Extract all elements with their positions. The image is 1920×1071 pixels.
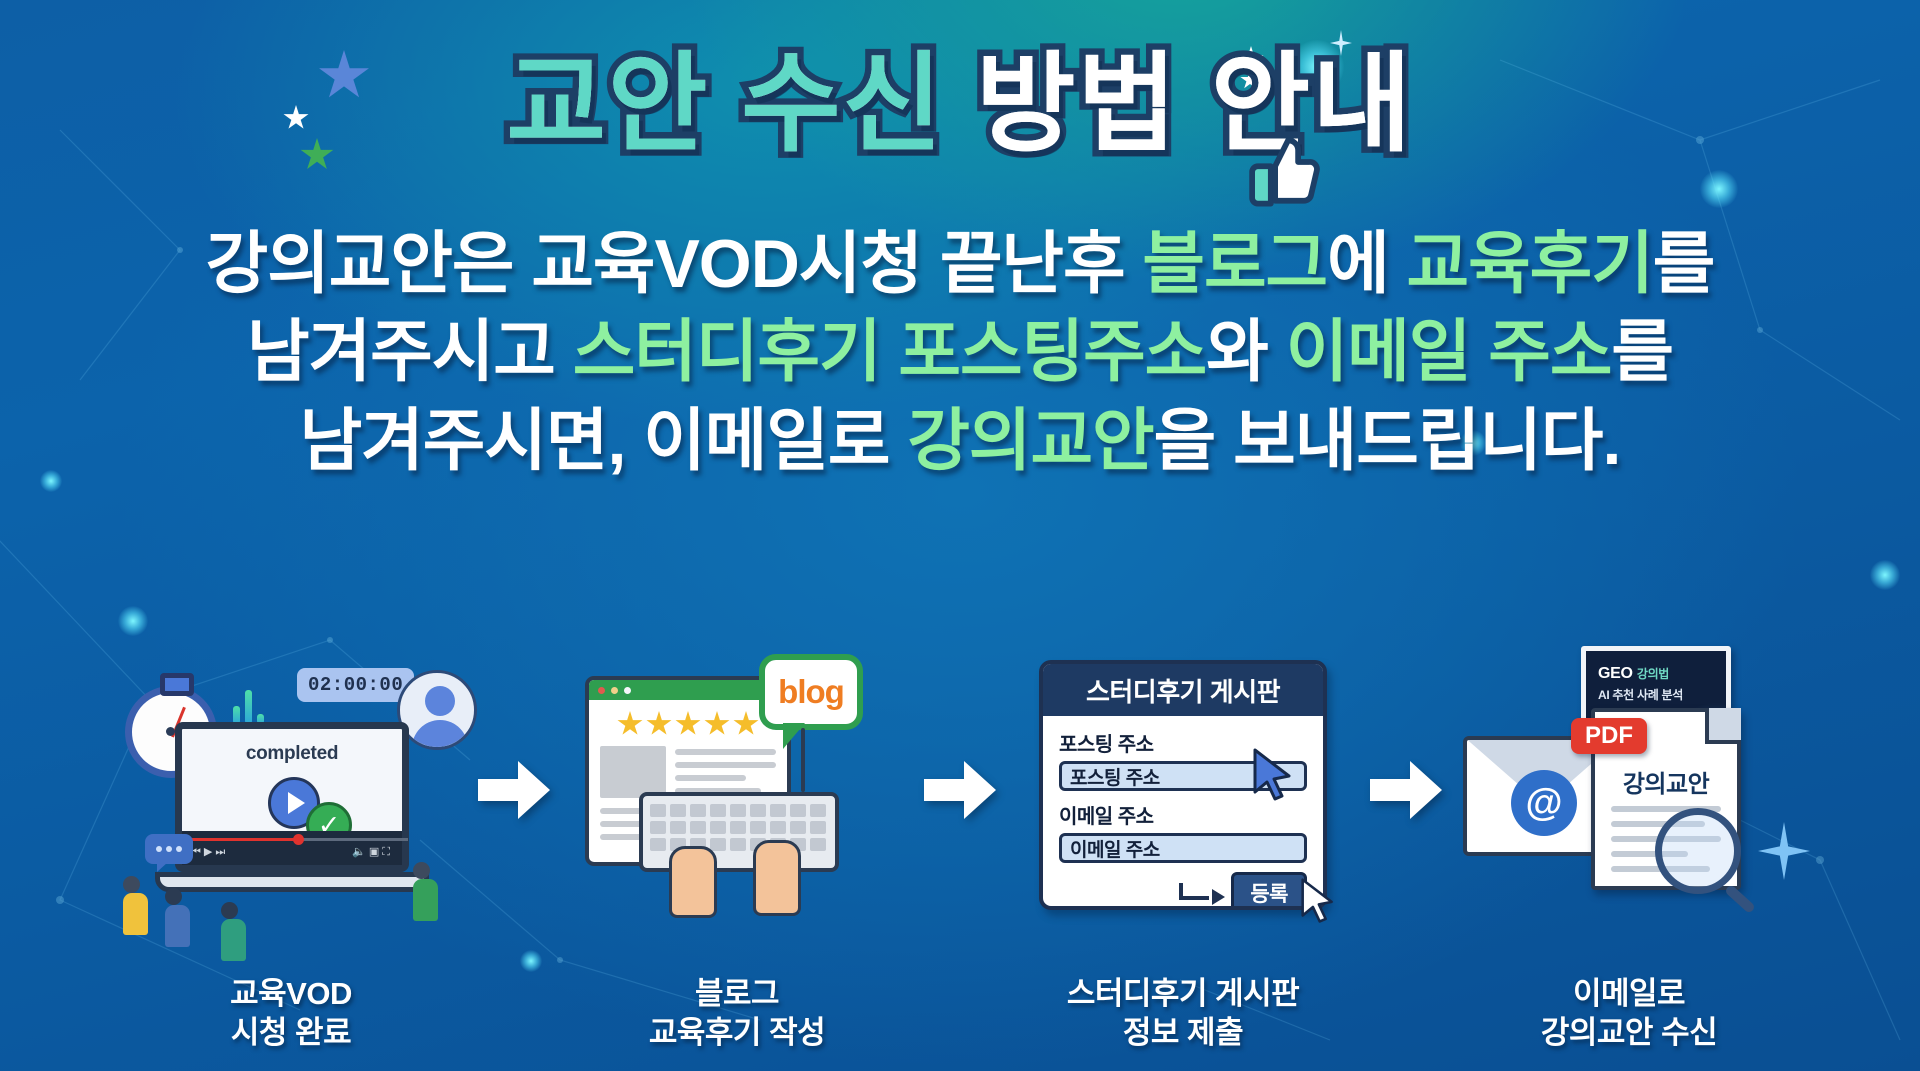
video-progress-bar[interactable]: ⏮▶⏭ 🔈▣⛶ (182, 831, 402, 865)
step-vod-caption: 교육VOD 시청 완료 (111, 974, 471, 1052)
speech-bubble-icon (145, 834, 193, 864)
caption-line-2: 시청 완료 (111, 1013, 471, 1052)
step-blog-illustration: blog (557, 640, 917, 940)
arrow-right-icon (471, 640, 557, 940)
timer-badge: 02:00:00 (297, 668, 414, 702)
body-line-3: 남겨주시면, 이메일로 강의교안을 보내드립니다. (0, 397, 1920, 485)
caption-line-1: 이메일로 (1449, 974, 1809, 1013)
step-vod: 02:00:00 completed ✓ ⏮▶⏭ 🔈▣⛶ (111, 640, 471, 1070)
person-figure (413, 862, 438, 921)
body-copy: 강의교안은 교육VOD시청 끝난후 블로그에 교육후기를 남겨주시고 스터디후기… (0, 220, 1920, 485)
body-run: 남겨주시면, 이메일로 (300, 403, 908, 479)
title-mint-part: 교안 수신 (507, 43, 944, 164)
body-run-highlight: 이메일 주소 (1286, 314, 1612, 390)
document-title: 강의교안 (1595, 764, 1737, 799)
caption-line-2: 강의교안 수신 (1449, 1013, 1809, 1052)
board-title: 스터디후기 게시판 (1043, 664, 1323, 716)
caption-line-2: 교육후기 작성 (557, 1013, 917, 1052)
step-blog: blog 블로그 교육후기 작성 (557, 640, 917, 1070)
page-title: 교안 수신 방법 안내 (507, 46, 1414, 163)
slide-title-main: GEO 강의법 (1598, 665, 1714, 683)
caption-line-1: 블로그 (557, 974, 917, 1013)
step-vod-illustration: 02:00:00 completed ✓ ⏮▶⏭ 🔈▣⛶ (111, 640, 471, 940)
body-run: 을 보내드립니다. (1154, 403, 1621, 479)
star-icon (617, 711, 643, 737)
post-thumbnail (600, 746, 666, 798)
body-run-highlight: 스터디후기 포스팅주소 (573, 314, 1207, 390)
star-icon (646, 711, 672, 737)
step-blog-caption: 블로그 교육후기 작성 (557, 974, 917, 1052)
typing-hands-icon (753, 840, 801, 916)
infographic-canvas: 교안 수신 방법 안내 강의교안은 교육VOD시청 끝난후 블로그에 교육후기를… (0, 0, 1920, 1071)
step-board-illustration: 스터디후기 게시판 포스팅 주소 포스팅 주소 이메일 주소 이메일 주소 등록 (1003, 640, 1363, 940)
cable-decoration (801, 728, 805, 792)
body-run: 를 (1611, 314, 1673, 390)
body-run-highlight: 강의교안 (907, 403, 1153, 479)
magnifier-icon (1655, 808, 1741, 894)
title-white-part: 방법 안내 (976, 43, 1413, 164)
at-sign-icon: @ (1511, 770, 1577, 836)
body-run: 남겨주시고 (247, 314, 573, 390)
step-board-caption: 스터디후기 게시판 정보 제출 (1003, 974, 1363, 1052)
email-address-input[interactable]: 이메일 주소 (1059, 833, 1307, 863)
step-email: GEO 강의법 AI 추천 사례 분석 AI 검색 노출에 최적화된 강의 실무… (1449, 640, 1809, 1070)
user-avatar-icon (397, 670, 477, 750)
step-board: 스터디후기 게시판 포스팅 주소 포스팅 주소 이메일 주소 이메일 주소 등록 (1003, 640, 1363, 1070)
completed-label: completed (182, 743, 402, 765)
blog-bubble-icon: blog (759, 654, 863, 730)
body-run-highlight: 교육후기 (1407, 226, 1653, 302)
bokeh-dot (1700, 170, 1738, 208)
signal-bars-icon (233, 684, 264, 724)
caption-line-1: 스터디후기 게시판 (1003, 974, 1363, 1013)
body-run: 를 (1653, 226, 1715, 302)
pdf-badge: PDF (1571, 718, 1647, 754)
body-run-highlight: 블로그 (1142, 226, 1327, 302)
body-line-1: 강의교안은 교육VOD시청 끝난후 블로그에 교육후기를 (0, 220, 1920, 308)
register-button[interactable]: 등록 (1231, 872, 1307, 910)
body-run: 강의교안은 교육VOD시청 끝난후 (206, 226, 1143, 302)
rating-stars (589, 711, 787, 737)
step-email-caption: 이메일로 강의교안 수신 (1449, 974, 1809, 1052)
arrow-right-icon (917, 640, 1003, 940)
person-figure (221, 902, 246, 961)
caption-line-1: 교육VOD (111, 974, 471, 1013)
star-icon (733, 711, 759, 737)
slide-title-sub: 강의법 (1637, 667, 1669, 681)
body-run: 에 (1327, 226, 1406, 302)
browser-titlebar (589, 680, 787, 700)
caption-line-2: 정보 제출 (1003, 1013, 1363, 1052)
star-icon (675, 711, 701, 737)
star-icon (704, 711, 730, 737)
arrow-elbow-icon (1179, 883, 1225, 903)
laptop-base (155, 872, 429, 892)
laptop-screen: completed ✓ ⏮▶⏭ 🔈▣⛶ (175, 722, 409, 872)
person-figure (123, 876, 148, 935)
posting-url-label: 포스팅 주소 (1059, 728, 1307, 757)
body-run: 와 (1206, 314, 1285, 390)
study-review-board: 스터디후기 게시판 포스팅 주소 포스팅 주소 이메일 주소 이메일 주소 등록 (1039, 660, 1327, 910)
person-figure (165, 888, 190, 947)
post-preview (589, 746, 787, 798)
slide-subtitle: AI 추천 사례 분석 (1598, 686, 1714, 703)
step-email-illustration: GEO 강의법 AI 추천 사례 분석 AI 검색 노출에 최적화된 강의 실무… (1449, 640, 1809, 940)
email-address-label: 이메일 주소 (1059, 800, 1307, 829)
process-steps: 02:00:00 completed ✓ ⏮▶⏭ 🔈▣⛶ (0, 640, 1920, 1070)
title-block: 교안 수신 방법 안내 (0, 46, 1920, 163)
bokeh-dot (118, 606, 148, 636)
typing-hands-icon (669, 846, 717, 918)
body-line-2: 남겨주시고 스터디후기 포스팅주소와 이메일 주소를 (0, 308, 1920, 396)
arrow-right-icon (1363, 640, 1449, 940)
bokeh-dot (1870, 560, 1900, 590)
posting-url-input[interactable]: 포스팅 주소 (1059, 761, 1307, 791)
